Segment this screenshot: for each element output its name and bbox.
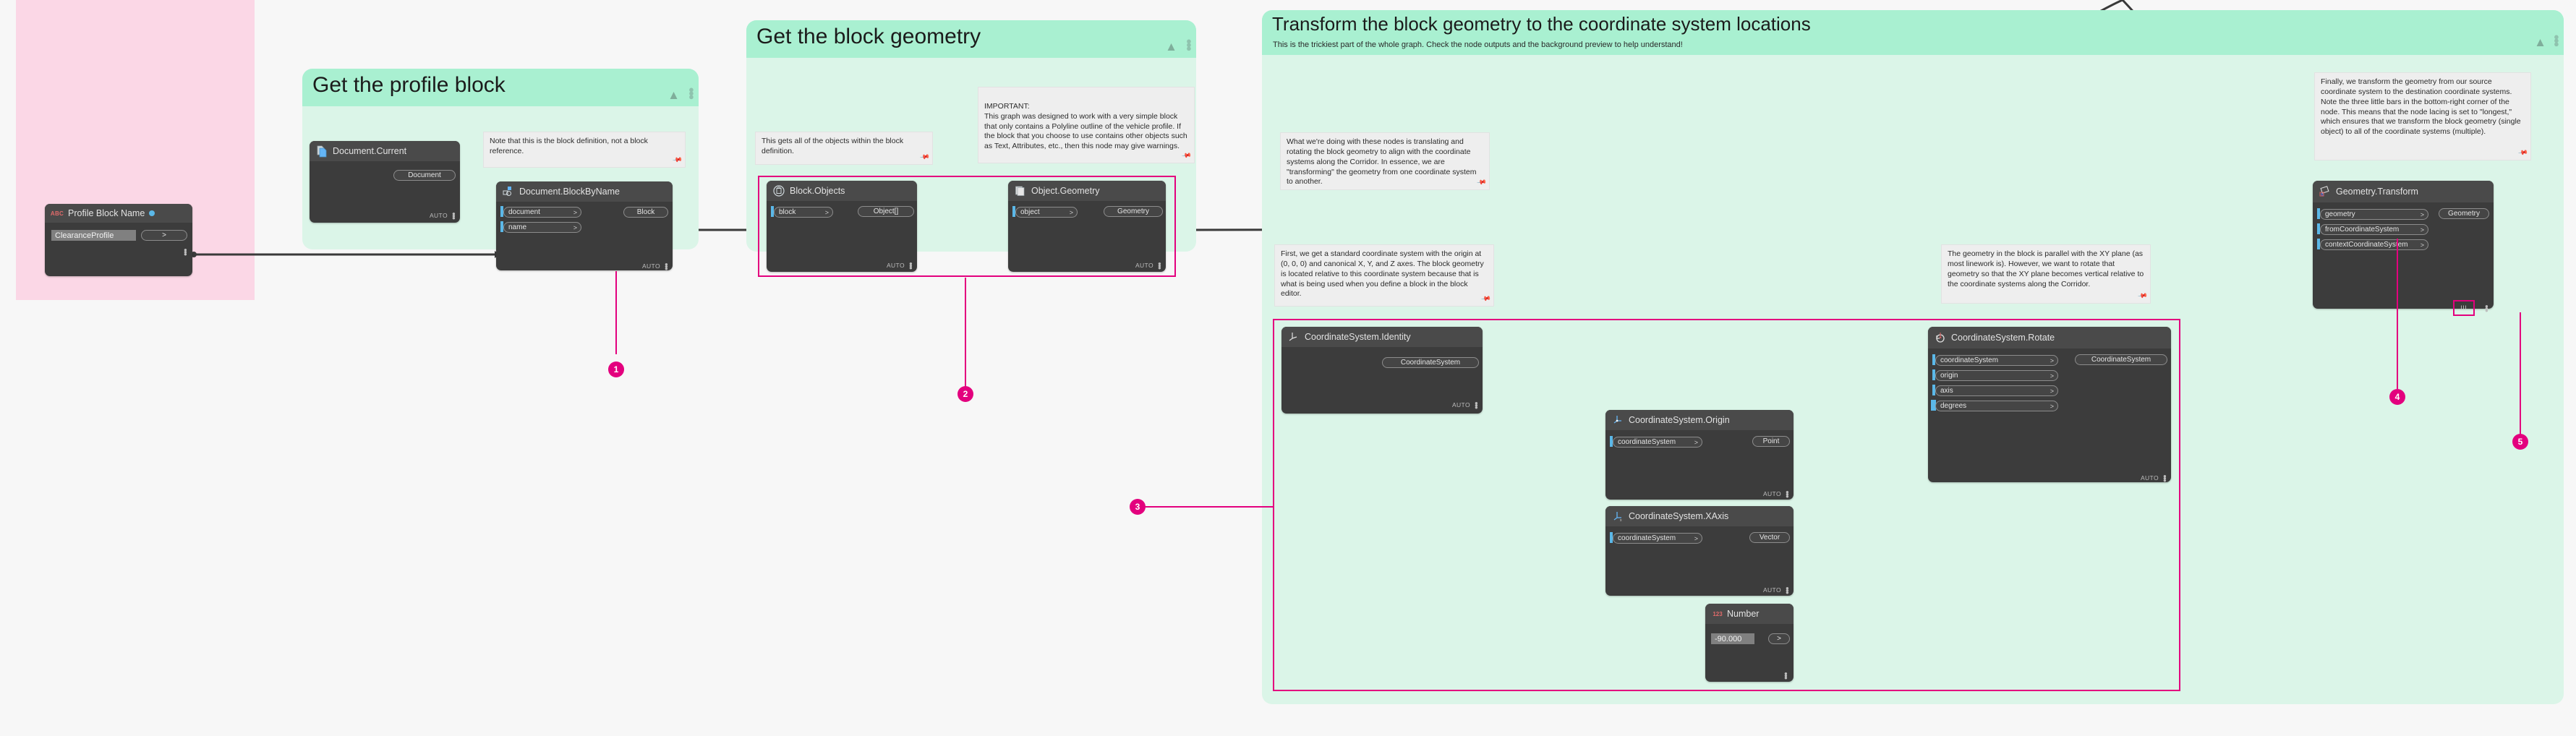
- node-menu-icon[interactable]: ●●●: [452, 213, 455, 219]
- input-port-label: name: [508, 223, 526, 231]
- chevron-right-icon: >: [2421, 211, 2424, 218]
- group-title: Get the block geometry: [756, 25, 981, 49]
- node-header: Document.BlockByName: [496, 181, 673, 202]
- input-port[interactable]: coordinateSystem >: [1613, 533, 1702, 544]
- chevron-right-icon: >: [1694, 535, 1698, 542]
- node-header: Document.Current: [310, 141, 460, 161]
- node-body: object > Geometry AUTO ●●●: [1008, 201, 1166, 277]
- pin-icon[interactable]: 📌: [1480, 294, 1491, 305]
- svg-text:x: x: [1620, 518, 1622, 523]
- node-menu-icon[interactable]: ●●●: [184, 249, 187, 255]
- note-important[interactable]: IMPORTANT: This graph was designed to wo…: [978, 87, 1195, 163]
- block-objects-icon: [772, 184, 785, 197]
- input-port[interactable]: object >: [1015, 207, 1078, 218]
- node-number[interactable]: 123 Number -90.000 > ●●●: [1705, 604, 1794, 682]
- badge-leader-line: [2520, 312, 2521, 441]
- input-port-label: coordinateSystem: [1618, 534, 1676, 542]
- lacing-label: AUTO: [887, 262, 905, 269]
- node-footer: AUTO ●●●: [642, 260, 673, 272]
- node-header: Object.Geometry: [1008, 181, 1166, 201]
- node-footer: AUTO ●●●: [430, 210, 460, 221]
- chevron-right-icon: >: [1070, 209, 1073, 216]
- node-profile-block-name[interactable]: ABC Profile Block Name ClearanceProfile …: [45, 204, 192, 276]
- output-port-label: Geometry: [2448, 210, 2480, 218]
- node-coordinatesystem-identity[interactable]: CoordinateSystem.Identity CoordinateSyst…: [1281, 327, 1483, 414]
- output-port[interactable]: Geometry: [2439, 208, 2489, 219]
- input-row: name >: [496, 221, 673, 234]
- output-port[interactable]: Geometry: [1104, 206, 1163, 217]
- output-port[interactable]: Block: [623, 207, 668, 218]
- chevron-right-icon: >: [573, 209, 577, 216]
- node-body: document > name > Block AUTO ●●●: [496, 202, 673, 275]
- input-port-label: coordinateSystem: [1940, 356, 1998, 364]
- output-port[interactable]: CoordinateSystem: [1382, 357, 1479, 368]
- output-port[interactable]: Document: [393, 170, 456, 181]
- node-menu-icon[interactable]: ●●●: [665, 263, 668, 270]
- input-port[interactable]: coordinateSystem >: [1613, 437, 1702, 448]
- output-port-label: CoordinateSystem: [2091, 356, 2151, 364]
- lacing-longest-indicator[interactable]: lll: [2453, 300, 2475, 316]
- note-objects-within[interactable]: This gets all of the objects within the …: [755, 132, 933, 165]
- pin-icon[interactable]: 📌: [671, 155, 683, 166]
- node-title: Document.BlockByName: [519, 187, 620, 197]
- node-menu-icon[interactable]: ●●●: [1158, 262, 1161, 269]
- input-row: origin >: [1928, 369, 2171, 382]
- chevron-up-icon[interactable]: ▲: [2534, 36, 2546, 48]
- node-object-geometry[interactable]: Object.Geometry object > Geometry AUTO ●…: [1008, 181, 1166, 272]
- node-footer: AUTO ●●●: [1452, 399, 1483, 411]
- node-body: block > Object[] AUTO ●●●: [767, 201, 917, 277]
- node-document-current[interactable]: Document.Current Document AUTO ●●●: [310, 141, 460, 223]
- node-body: coordinateSystem > Point AUTO ●●●: [1605, 430, 1794, 505]
- selection-region-left: [16, 0, 255, 134]
- transform-icon: [2319, 185, 2332, 198]
- output-port-label: Document: [408, 171, 441, 179]
- node-menu-icon[interactable]: ●●●: [1475, 402, 1477, 408]
- input-port-label: origin: [1940, 372, 1958, 380]
- input-port-label: object: [1020, 208, 1040, 216]
- node-title: Object.Geometry: [1031, 186, 1099, 196]
- node-title: CoordinateSystem.Rotate: [1951, 333, 2055, 343]
- number-value-field[interactable]: -90.000: [1711, 633, 1754, 644]
- node-title: Geometry.Transform: [2336, 187, 2418, 197]
- input-row: degrees >: [1928, 400, 2171, 412]
- pin-icon[interactable]: 📌: [2136, 291, 2148, 302]
- node-header: Block.Objects: [767, 181, 917, 201]
- badge-1[interactable]: 1: [608, 361, 624, 377]
- input-row: contextCoordinateSystem >: [2313, 239, 2494, 251]
- lacing-label: AUTO: [1135, 262, 1153, 269]
- input-port-label: fromCoordinateSystem: [2325, 226, 2399, 234]
- badge-2[interactable]: 2: [958, 386, 973, 402]
- badge-leader-line: [1143, 506, 1274, 508]
- node-title: Block.Objects: [790, 186, 845, 196]
- input-port[interactable]: contextCoordinateSystem >: [2320, 239, 2428, 250]
- string-value-field[interactable]: ClearanceProfile: [51, 230, 136, 241]
- chevron-right-icon: >: [2050, 403, 2054, 410]
- badge-leader-line: [965, 278, 966, 393]
- note-translating[interactable]: What we're doing with these nodes is tra…: [1280, 132, 1490, 190]
- node-header: ABC Profile Block Name: [45, 204, 192, 223]
- pin-icon[interactable]: 📌: [1180, 150, 1192, 162]
- lacing-label: AUTO: [642, 262, 660, 270]
- note-text: Finally, we transform the geometry from …: [2321, 77, 2521, 136]
- output-port[interactable]: >: [1768, 633, 1790, 644]
- chevron-right-icon: >: [2050, 372, 2054, 380]
- node-body: ClearanceProfile > ●●●: [45, 223, 192, 268]
- input-port[interactable]: degrees >: [1935, 401, 2058, 411]
- note-text: The geometry in the block is parallel wi…: [1948, 249, 2144, 288]
- node-body: Document AUTO ●●●: [310, 161, 460, 226]
- chevron-right-icon: >: [825, 209, 829, 216]
- input-port[interactable]: geometry >: [2320, 209, 2428, 220]
- output-port-label: >: [162, 231, 166, 239]
- node-title: Number: [1727, 609, 1759, 619]
- lacing-label: AUTO: [2141, 474, 2159, 482]
- badge-3[interactable]: 3: [1130, 499, 1146, 515]
- node-footer: AUTO ●●●: [887, 260, 917, 271]
- output-port-label: Geometry: [1117, 207, 1149, 215]
- group-subtitle: This is the trickiest part of the whole …: [1273, 40, 1683, 49]
- node-body: coordinateSystem > origin > axis >: [1928, 348, 2171, 488]
- chevron-right-icon: >: [2050, 357, 2054, 364]
- output-port-label: CoordinateSystem: [1401, 359, 1460, 367]
- node-title: CoordinateSystem.Identity: [1305, 332, 1411, 342]
- badge-5[interactable]: 5: [2512, 434, 2528, 450]
- group-menu-icon[interactable]: ●●●: [2554, 35, 2558, 46]
- number-icon: 123: [1713, 607, 1723, 620]
- note-text: IMPORTANT: This graph was designed to wo…: [984, 102, 1187, 150]
- input-port-label: geometry: [2325, 210, 2355, 218]
- note-identity[interactable]: First, we get a standard coordinate syst…: [1274, 244, 1494, 307]
- node-body: CoordinateSystem AUTO ●●●: [1281, 347, 1483, 416]
- output-port[interactable]: Point: [1752, 436, 1790, 447]
- node-body: -90.000 > ●●●: [1705, 624, 1794, 685]
- node-footer: AUTO ●●●: [2141, 472, 2171, 484]
- input-port-label: degrees: [1940, 402, 1966, 410]
- badge-4[interactable]: 4: [2389, 389, 2405, 405]
- node-title: Profile Block Name: [68, 208, 145, 218]
- input-port-label: contextCoordinateSystem: [2325, 241, 2408, 249]
- node-menu-icon[interactable]: ●●●: [1786, 587, 1788, 594]
- input-row: fromCoordinateSystem >: [2313, 223, 2494, 236]
- note-rotate[interactable]: The geometry in the block is parallel wi…: [1941, 244, 2151, 304]
- node-menu-icon[interactable]: ●●●: [1784, 672, 1787, 679]
- input-port[interactable]: axis >: [1935, 385, 2058, 396]
- note-text: First, we get a standard coordinate syst…: [1281, 249, 1484, 298]
- node-title: Document.Current: [333, 146, 406, 156]
- input-port[interactable]: origin >: [1935, 370, 2058, 381]
- note-block-definition[interactable]: Note that this is the block definition, …: [483, 132, 686, 168]
- node-coordinatesystem-origin[interactable]: CoordinateSystem.Origin coordinateSystem…: [1605, 410, 1794, 500]
- node-menu-icon[interactable]: ●●●: [2485, 305, 2488, 312]
- document-icon: [315, 145, 328, 158]
- input-port-label: coordinateSystem: [1618, 438, 1676, 446]
- lacing-label: AUTO: [1452, 401, 1470, 408]
- group-title: Transform the block geometry to the coor…: [1272, 13, 1811, 35]
- output-port[interactable]: Vector: [1749, 532, 1790, 543]
- block-icon: [502, 185, 515, 198]
- rotate-icon: [1934, 331, 1947, 344]
- input-port[interactable]: document >: [503, 207, 581, 218]
- pin-icon[interactable]: 📌: [2517, 147, 2528, 159]
- node-body: geometry > fromCoordinateSystem > contex…: [2313, 202, 2494, 314]
- badge-leader-line: [615, 271, 617, 354]
- input-port-label: axis: [1940, 387, 1953, 395]
- chevron-right-icon: >: [2421, 241, 2424, 249]
- input-port-label: document: [508, 208, 540, 216]
- chevron-right-icon: >: [2421, 226, 2424, 234]
- input-port[interactable]: fromCoordinateSystem >: [2320, 224, 2428, 235]
- node-header: x CoordinateSystem.XAxis: [1605, 506, 1794, 526]
- output-port[interactable]: CoordinateSystem: [2075, 354, 2167, 365]
- axis-origin-icon: [1611, 414, 1624, 427]
- output-port-label: Vector: [1760, 534, 1780, 542]
- group-menu-icon[interactable]: ●●●: [688, 87, 693, 98]
- note-transform[interactable]: Finally, we transform the geometry from …: [2314, 72, 2531, 161]
- geometry-stack-icon: [1014, 184, 1027, 197]
- group-title: Get the profile block: [312, 73, 506, 98]
- chevron-right-icon: >: [2050, 388, 2054, 395]
- lacing-label: AUTO: [430, 212, 448, 219]
- node-document-blockbyname[interactable]: Document.BlockByName document > name > B…: [496, 181, 673, 270]
- node-title: CoordinateSystem.Origin: [1629, 415, 1730, 425]
- node-menu-icon[interactable]: ●●●: [909, 262, 912, 269]
- node-header: CoordinateSystem.Origin: [1605, 410, 1794, 430]
- node-block-objects[interactable]: Block.Objects block > Object[] AUTO ●●●: [767, 181, 917, 272]
- note-text: Note that this is the block definition, …: [490, 137, 648, 155]
- chevron-right-icon: >: [573, 224, 577, 231]
- input-row: axis >: [1928, 385, 2171, 397]
- chevron-right-icon: >: [1694, 439, 1698, 446]
- node-body: coordinateSystem > Vector AUTO ●●●: [1605, 526, 1794, 602]
- note-text: This gets all of the objects within the …: [762, 137, 903, 155]
- lacing-label: AUTO: [1763, 490, 1781, 497]
- node-coordinatesystem-xaxis[interactable]: x CoordinateSystem.XAxis coordinateSyste…: [1605, 506, 1794, 596]
- node-header: CoordinateSystem.Identity: [1281, 327, 1483, 347]
- output-port-label: Object[]: [874, 207, 898, 215]
- node-coordinatesystem-rotate[interactable]: CoordinateSystem.Rotate coordinateSystem…: [1928, 327, 2171, 482]
- input-port[interactable]: block >: [774, 207, 833, 218]
- node-geometry-transform[interactable]: Geometry.Transform geometry > fromCoordi…: [2313, 181, 2494, 309]
- pin-icon[interactable]: 📌: [918, 152, 930, 163]
- output-port-label: Block: [637, 208, 654, 216]
- graph-canvas[interactable]: Get the profile block ▲ ●●● Get the bloc…: [0, 0, 2576, 736]
- chevron-up-icon[interactable]: ▲: [1165, 40, 1177, 53]
- wcs-axis-icon: [1287, 330, 1300, 343]
- input-port-label: block: [779, 208, 796, 216]
- node-header: Geometry.Transform: [2313, 181, 2494, 202]
- axis-x-icon: x: [1611, 510, 1624, 523]
- group-menu-icon[interactable]: ●●●: [1186, 39, 1190, 50]
- badge-leader-line: [2397, 239, 2398, 389]
- node-footer: AUTO ●●●: [1763, 488, 1794, 500]
- node-header: CoordinateSystem.Rotate: [1928, 327, 2171, 348]
- chevron-up-icon[interactable]: ▲: [668, 89, 680, 101]
- node-footer: AUTO ●●●: [1135, 260, 1166, 271]
- node-menu-icon[interactable]: ●●●: [1786, 491, 1788, 497]
- node-menu-icon[interactable]: ●●●: [2163, 475, 2166, 482]
- node-footer: AUTO ●●●: [1763, 584, 1794, 596]
- node-header: 123 Number: [1705, 604, 1794, 624]
- output-port-label: Point: [1763, 437, 1780, 445]
- abc-string-icon: ABC: [51, 207, 64, 220]
- pin-icon[interactable]: 📌: [1475, 177, 1487, 189]
- output-port[interactable]: Object[]: [858, 206, 914, 217]
- node-title: CoordinateSystem.XAxis: [1629, 511, 1728, 521]
- output-port-label: >: [1777, 635, 1781, 643]
- lacing-label: AUTO: [1763, 586, 1781, 594]
- preview-dot-icon[interactable]: [149, 210, 155, 216]
- input-port[interactable]: coordinateSystem >: [1935, 355, 2058, 366]
- note-text: What we're doing with these nodes is tra…: [1287, 137, 1477, 186]
- input-port[interactable]: name >: [503, 222, 581, 233]
- output-port[interactable]: >: [141, 230, 187, 241]
